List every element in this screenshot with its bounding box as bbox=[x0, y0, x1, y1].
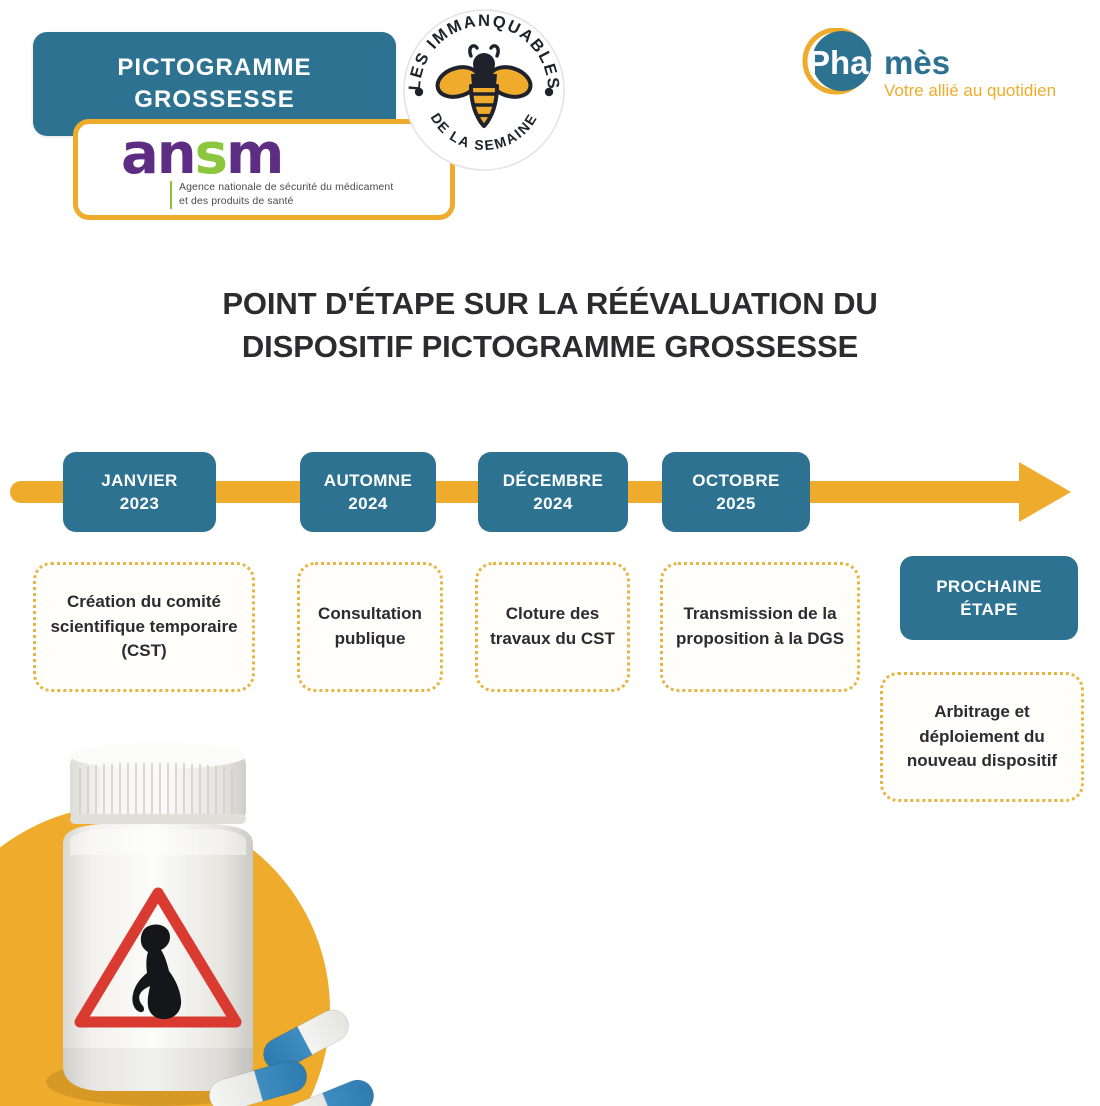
ansm-wordmark-an: an bbox=[121, 122, 195, 187]
timeline-node-year: 2024 bbox=[348, 494, 387, 514]
pharmes-logo: Phar mès Votre allié au quotidien bbox=[790, 28, 1080, 108]
header-badge-line2: GROSSESSE bbox=[134, 87, 295, 113]
timeline-node-2[interactable]: DÉCEMBRE 2024 bbox=[478, 452, 628, 532]
page-title-line2: DISPOSITIF PICTOGRAMME GROSSESSE bbox=[0, 326, 1100, 369]
pharmes-name-white: Phar bbox=[808, 44, 882, 81]
next-step-node[interactable]: PROCHAINE ÉTAPE bbox=[900, 556, 1078, 640]
pharmes-name-blue: mès bbox=[884, 44, 950, 81]
timeline-detail-3: Transmission de la proposition à la DGS bbox=[660, 562, 860, 692]
timeline-detail-2: Cloture des travaux du CST bbox=[475, 562, 630, 692]
ansm-wordmark-m: m bbox=[226, 122, 282, 187]
timeline-arrowhead-icon bbox=[1019, 462, 1071, 522]
next-step-label-line1: PROCHAINE bbox=[936, 577, 1042, 597]
timeline-node-1[interactable]: AUTOMNE 2024 bbox=[300, 452, 436, 532]
ansm-wordmark-s: s bbox=[195, 122, 226, 187]
timeline-node-month: OCTOBRE bbox=[692, 471, 780, 491]
timeline-node-year: 2025 bbox=[716, 494, 755, 514]
timeline-node-year: 2023 bbox=[120, 494, 159, 514]
timeline-node-0[interactable]: JANVIER 2023 bbox=[63, 452, 216, 532]
timeline-detail-1: Consultation publique bbox=[297, 562, 443, 692]
timeline-detail-0: Création du comité scientifique temporai… bbox=[33, 562, 255, 692]
ansm-tagline-line2: et des produits de santé bbox=[179, 195, 393, 209]
page-title: POINT D'ÉTAPE SUR LA RÉÉVALUATION DU DIS… bbox=[0, 283, 1100, 369]
ansm-wordmark: ansm bbox=[121, 127, 282, 183]
next-step-detail: Arbitrage et déploiement du nouveau disp… bbox=[880, 672, 1084, 802]
bee-badge-icon: LES IMMANQUABLES DE LA SEMAINE bbox=[398, 4, 570, 176]
page-title-line1: POINT D'ÉTAPE SUR LA RÉÉVALUATION DU bbox=[0, 283, 1100, 326]
next-step-label-line2: ÉTAPE bbox=[960, 600, 1017, 620]
timeline-node-month: JANVIER bbox=[101, 471, 178, 491]
infographic-canvas: PICTOGRAMME GROSSESSE ansm Agence nation… bbox=[0, 0, 1100, 1106]
pill-bottle-photo bbox=[0, 730, 420, 1106]
ansm-tagline-line1: Agence nationale de sécurité du médicame… bbox=[179, 181, 393, 195]
ansm-tagline: Agence nationale de sécurité du médicame… bbox=[170, 181, 393, 209]
pharmes-tagline-label: Votre allié au quotidien bbox=[884, 81, 1056, 100]
timeline-node-year: 2024 bbox=[533, 494, 572, 514]
timeline-node-3[interactable]: OCTOBRE 2025 bbox=[662, 452, 810, 532]
timeline-node-month: DÉCEMBRE bbox=[503, 471, 604, 491]
header-badge-line1: PICTOGRAMME bbox=[117, 55, 311, 81]
timeline-node-month: AUTOMNE bbox=[324, 471, 412, 491]
